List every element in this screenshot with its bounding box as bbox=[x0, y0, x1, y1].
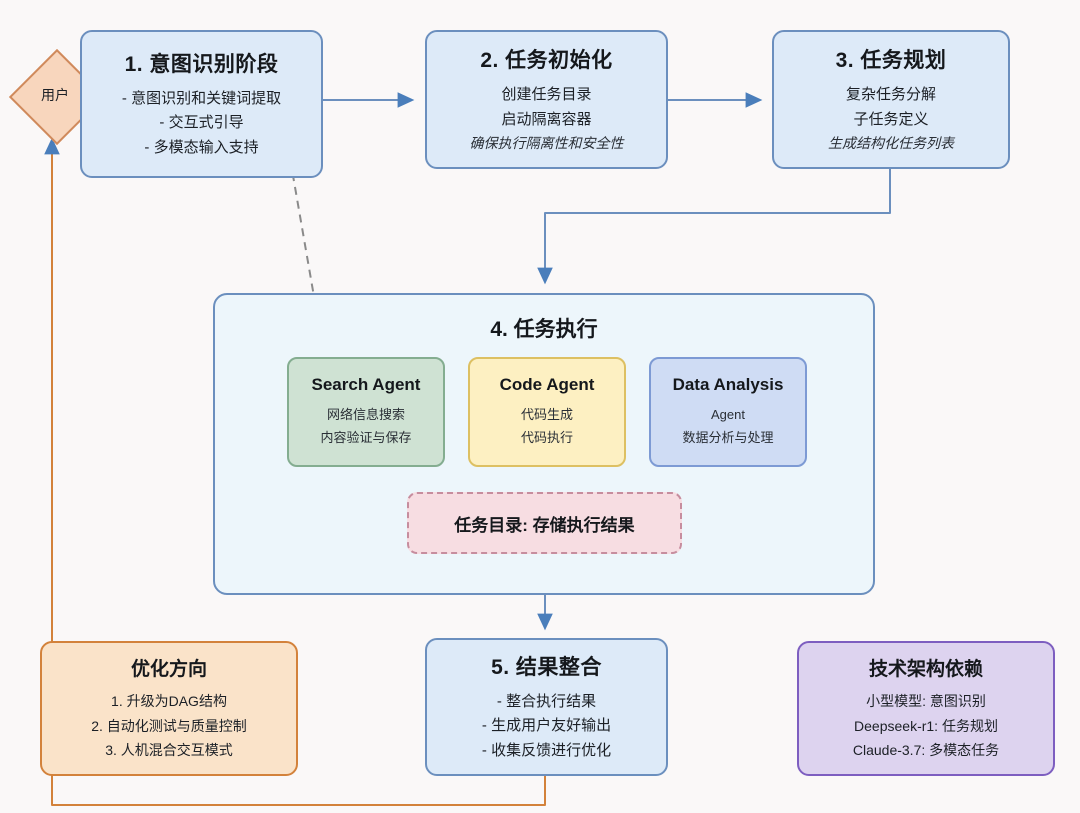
code-agent-title: Code Agent bbox=[500, 375, 595, 395]
tech-stack-title: 技术架构依赖 bbox=[869, 654, 983, 681]
optimization-line-1: 1. 升级为DAG结构 bbox=[111, 689, 227, 714]
stage-2-task-initialization[interactable]: 2. 任务初始化 创建任务目录 启动隔离容器 确保执行隔离性和安全性 bbox=[425, 30, 668, 169]
stage-2-line-1: 创建任务目录 bbox=[501, 83, 591, 107]
stage-1-intent-recognition[interactable]: 1. 意图识别阶段 - 意图识别和关键词提取 - 交互式引导 - 多模态输入支持 bbox=[80, 30, 323, 178]
optimization-line-3: 3. 人机混合交互模式 bbox=[105, 738, 233, 763]
stage-1-title: 1. 意图识别阶段 bbox=[125, 48, 279, 78]
tech-stack-box[interactable]: 技术架构依赖 小型模型: 意图识别 Deepseek-r1: 任务规划 Clau… bbox=[797, 641, 1055, 776]
stage-2-title: 2. 任务初始化 bbox=[480, 44, 612, 74]
code-agent-line-1: 代码生成 bbox=[521, 404, 573, 427]
agent-card-code[interactable]: Code Agent 代码生成 代码执行 bbox=[468, 357, 626, 467]
stage-5-line-2: - 生成用户友好输出 bbox=[482, 714, 611, 738]
data-analysis-agent-title: Data Analysis bbox=[673, 375, 784, 395]
stage-3-line-2: 子任务定义 bbox=[853, 108, 928, 132]
optimization-title: 优化方向 bbox=[131, 654, 207, 681]
data-analysis-agent-line-2: 数据分析与处理 bbox=[682, 427, 773, 450]
search-agent-title: Search Agent bbox=[312, 375, 421, 395]
search-agent-line-2: 内容验证与保存 bbox=[320, 427, 411, 450]
search-agent-line-1: 网络信息搜索 bbox=[327, 404, 405, 427]
stage-1-line-3: - 多模态输入支持 bbox=[144, 136, 258, 160]
code-agent-line-2: 代码执行 bbox=[521, 427, 573, 450]
stage-3-task-planning[interactable]: 3. 任务规划 复杂任务分解 子任务定义 生成结构化任务列表 bbox=[772, 30, 1010, 169]
stage-3-line-1: 复杂任务分解 bbox=[846, 83, 936, 107]
stage-4-title: 4. 任务执行 bbox=[490, 313, 597, 343]
stage-1-line-2: - 交互式引导 bbox=[159, 111, 243, 135]
stage-5-line-1: - 整合执行结果 bbox=[497, 690, 596, 714]
stage-1-line-1: - 意图识别和关键词提取 bbox=[122, 87, 281, 111]
optimization-line-2: 2. 自动化测试与质量控制 bbox=[91, 714, 247, 739]
data-analysis-agent-line-1: Agent bbox=[711, 404, 745, 427]
stage-2-line-2: 启动隔离容器 bbox=[501, 108, 591, 132]
tech-stack-line-1: 小型模型: 意图识别 bbox=[866, 689, 986, 714]
stage-4-task-execution[interactable]: 4. 任务执行 Search Agent 网络信息搜索 内容验证与保存 Code… bbox=[213, 293, 875, 595]
stage-3-note: 生成结构化任务列表 bbox=[828, 132, 954, 155]
agent-card-search[interactable]: Search Agent 网络信息搜索 内容验证与保存 bbox=[287, 357, 445, 467]
tech-stack-line-3: Claude-3.7: 多模态任务 bbox=[853, 738, 999, 763]
diagram-canvas: 用户 1. 意图识别阶段 - 意图识别和关键词提取 - 交互式引导 - 多模态输… bbox=[0, 0, 1080, 813]
stage-5-title: 5. 结果整合 bbox=[491, 651, 602, 681]
agent-card-data-analysis[interactable]: Data Analysis Agent 数据分析与处理 bbox=[649, 357, 807, 467]
optimization-directions-box[interactable]: 优化方向 1. 升级为DAG结构 2. 自动化测试与质量控制 3. 人机混合交互… bbox=[40, 641, 298, 776]
stage-2-note: 确保执行隔离性和安全性 bbox=[470, 132, 624, 155]
stage-3-title: 3. 任务规划 bbox=[836, 44, 947, 74]
agents-row: Search Agent 网络信息搜索 内容验证与保存 Code Agent 代… bbox=[287, 357, 807, 467]
tech-stack-line-2: Deepseek-r1: 任务规划 bbox=[854, 714, 998, 739]
stage-5-line-3: - 收集反馈进行优化 bbox=[482, 739, 611, 763]
stage-5-result-integration[interactable]: 5. 结果整合 - 整合执行结果 - 生成用户友好输出 - 收集反馈进行优化 bbox=[425, 638, 668, 776]
wire-stage3-to-stage4 bbox=[545, 169, 890, 282]
task-directory-node[interactable]: 任务目录: 存储执行结果 bbox=[407, 492, 682, 554]
